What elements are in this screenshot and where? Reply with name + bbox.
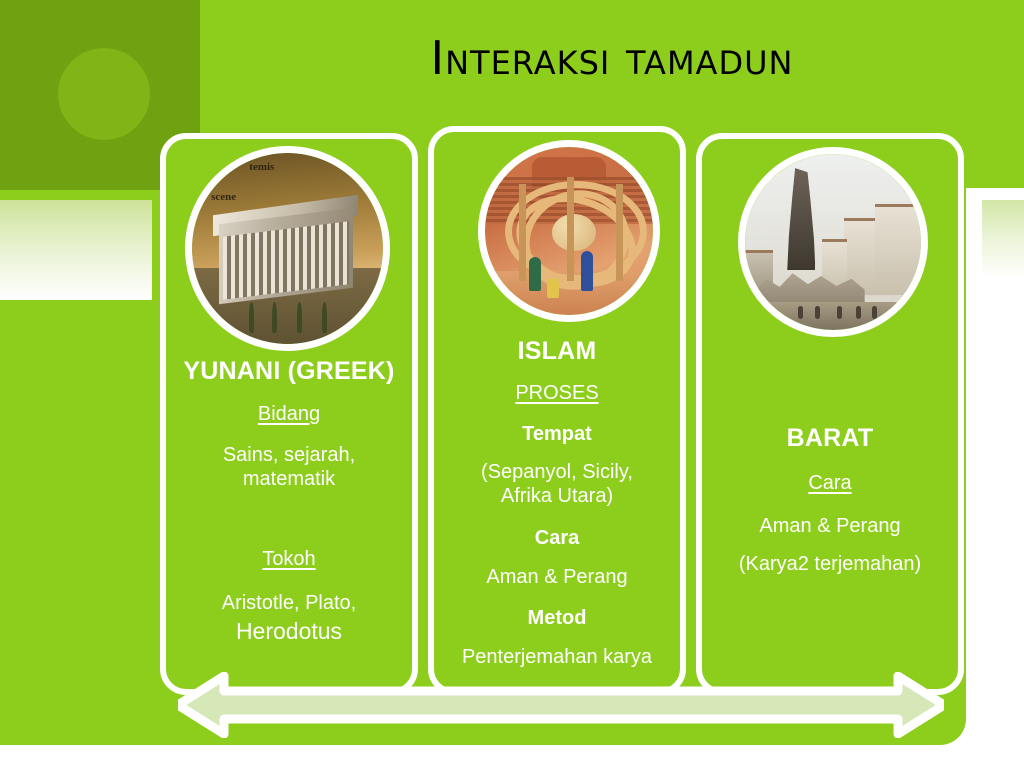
text-islam-tempat-2: Afrika Utara) — [428, 484, 686, 508]
text-barat-cara-2: (Karya2 terjemahan) — [696, 552, 964, 576]
greek-photo-caption-1: temis — [249, 161, 274, 173]
text-greek-tokoh-2: Herodotus — [160, 618, 418, 645]
background-fade-left — [0, 200, 152, 300]
islamic-observatory-illustration — [478, 140, 660, 322]
background-fade-right — [982, 200, 1024, 278]
text-barat-cara-1: Aman & Perang — [696, 514, 964, 538]
label-islam-tempat: Tempat — [428, 423, 686, 446]
text-islam-tempat-1: (Sepanyol, Sicily, — [428, 460, 686, 484]
label-islam-metod: Metod — [428, 607, 686, 630]
decorative-circle — [58, 48, 150, 140]
heading-islam: ISLAM — [428, 337, 686, 366]
greek-temple-photo: temis scene — [185, 146, 390, 351]
text-greek-bidang-1: Sains, sejarah, — [160, 443, 418, 467]
slide-canvas: Interaksi tamadun temis scene YUNANI (GR… — [0, 0, 1024, 768]
text-islam-cara-1: Aman & Perang — [428, 565, 686, 589]
text-islam-metod-1: Penterjemahan karya — [428, 645, 686, 669]
label-islam-cara: Cara — [428, 527, 686, 550]
heading-greek: YUNANI (GREEK) — [160, 357, 418, 386]
label-islam-proses: PROSES — [428, 382, 686, 405]
label-greek-tokoh: Tokoh — [160, 548, 418, 571]
label-greek-bidang: Bidang — [160, 403, 418, 426]
label-barat-cara: Cara — [696, 472, 964, 495]
text-greek-tokoh-1: Aristotle, Plato, — [160, 591, 418, 615]
page-title: Interaksi tamadun — [200, 34, 1024, 82]
double-headed-arrow — [178, 672, 944, 738]
text-greek-bidang-2: matematik — [160, 467, 418, 491]
greek-photo-caption-2: scene — [211, 191, 236, 203]
heading-barat: BARAT — [696, 424, 964, 453]
european-ruins-photo — [738, 147, 928, 337]
